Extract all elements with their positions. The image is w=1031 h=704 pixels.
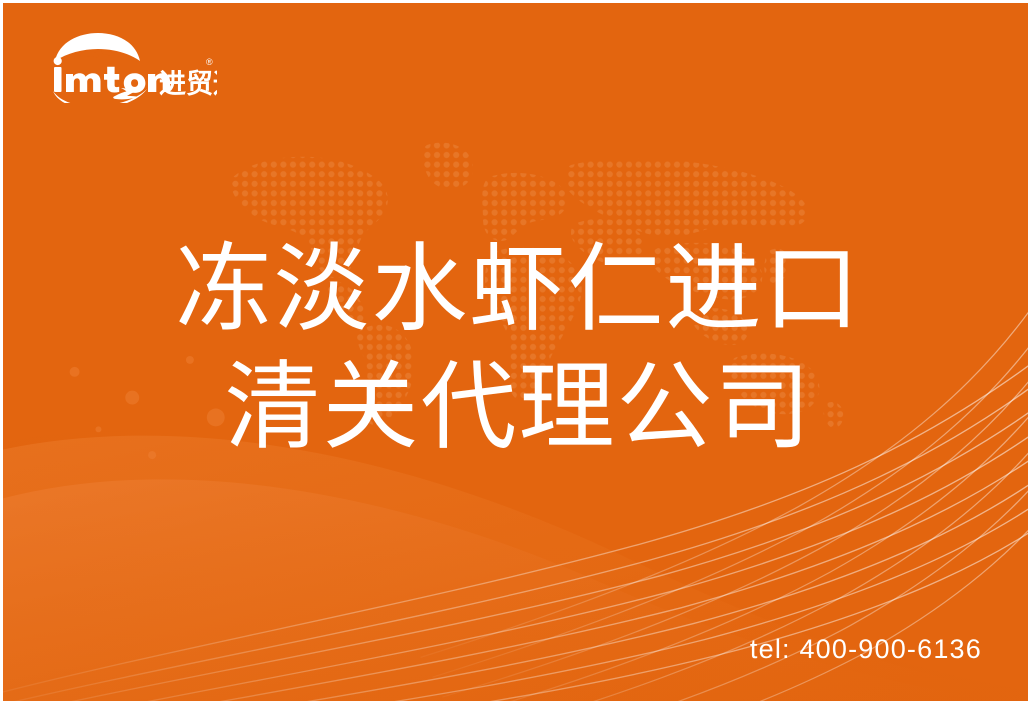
contact-phone: tel: 400-900-6136: [750, 634, 982, 665]
headline: 冻淡水虾仁进口 清关代理公司: [3, 231, 1028, 467]
headline-line-2: 清关代理公司: [3, 349, 1028, 467]
logo-chinese-name: 进贸通: [159, 69, 217, 100]
logo-wordmark: [54, 57, 170, 93]
globe-arc-icon: [55, 33, 140, 61]
promotional-banner: 进贸通 ® 冻淡水虾仁进口 清关代理公司 tel: 400-900-6136: [0, 0, 1031, 704]
headline-line-1: 冻淡水虾仁进口: [3, 231, 1028, 349]
company-logo[interactable]: 进贸通 ®: [41, 33, 217, 103]
banner-stage: 进贸通 ® 冻淡水虾仁进口 清关代理公司 tel: 400-900-6136: [3, 3, 1028, 701]
registered-trademark-symbol: ®: [206, 57, 213, 67]
